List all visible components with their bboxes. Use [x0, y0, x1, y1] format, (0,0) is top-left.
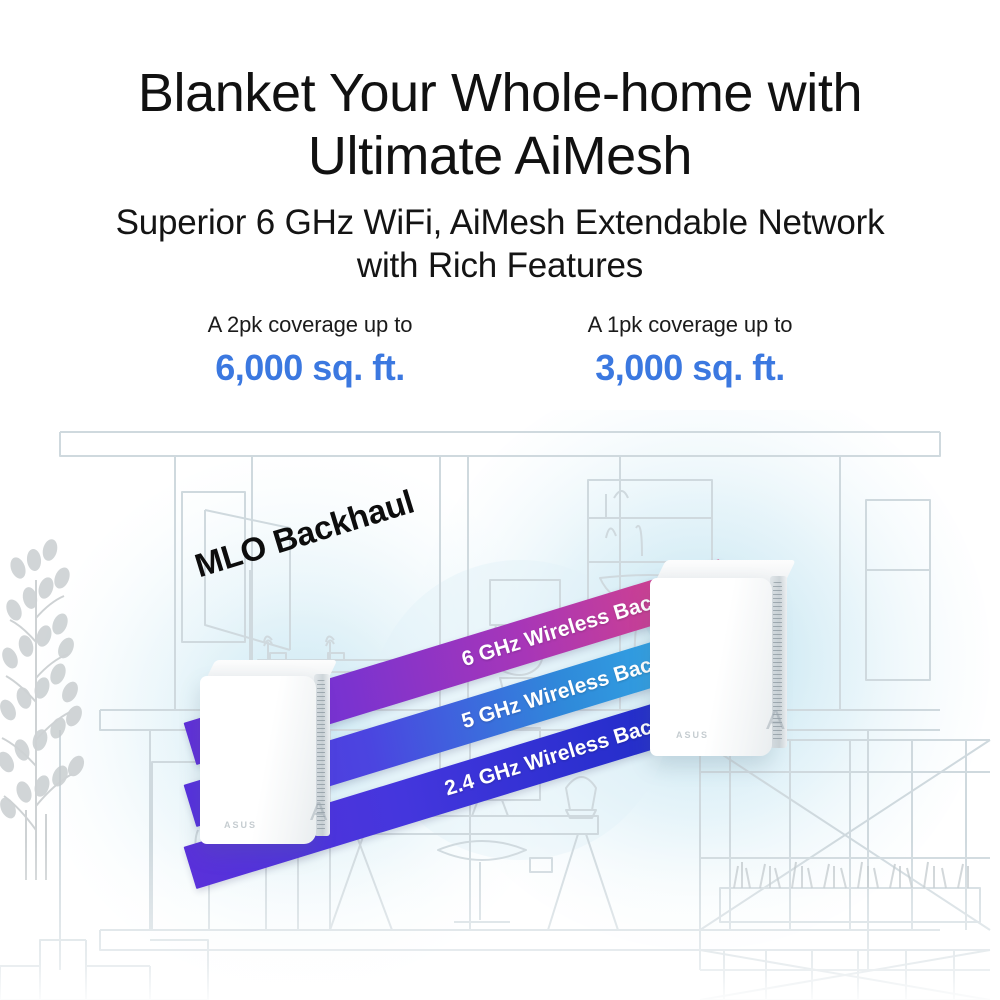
coverage-stat-1pk: A 1pk coverage up to 3,000 sq. ft.: [545, 312, 835, 389]
coverage-stat-2pk-label: A 2pk coverage up to: [165, 312, 455, 338]
router-left-front-face: ASUS: [200, 676, 316, 844]
page-title: Blanket Your Whole-home with Ultimate Ai…: [0, 62, 1000, 187]
asus-logo-left: ASUS: [224, 820, 257, 830]
router-left-a-mark: A: [310, 798, 327, 824]
coverage-stat-2pk-value: 6,000 sq. ft.: [165, 347, 455, 389]
promo-banner: Blanket Your Whole-home with Ultimate Ai…: [0, 0, 1000, 1000]
router-node-right: ASUS A: [648, 560, 808, 760]
coverage-stats: A 2pk coverage up to 6,000 sq. ft. A 1pk…: [0, 312, 1000, 389]
router-right-a-mark: A: [766, 706, 785, 734]
coverage-stat-1pk-value: 3,000 sq. ft.: [545, 347, 835, 389]
page-subtitle: Superior 6 GHz WiFi, AiMesh Extendable N…: [0, 202, 1000, 287]
house-illustration-scene: [0, 410, 1000, 1000]
asus-logo-right: ASUS: [676, 730, 709, 740]
router-node-left: ASUS A: [198, 660, 348, 850]
router-right-front-face: ASUS: [650, 578, 772, 756]
coverage-stat-2pk: A 2pk coverage up to 6,000 sq. ft.: [165, 312, 455, 389]
coverage-stat-1pk-label: A 1pk coverage up to: [545, 312, 835, 338]
